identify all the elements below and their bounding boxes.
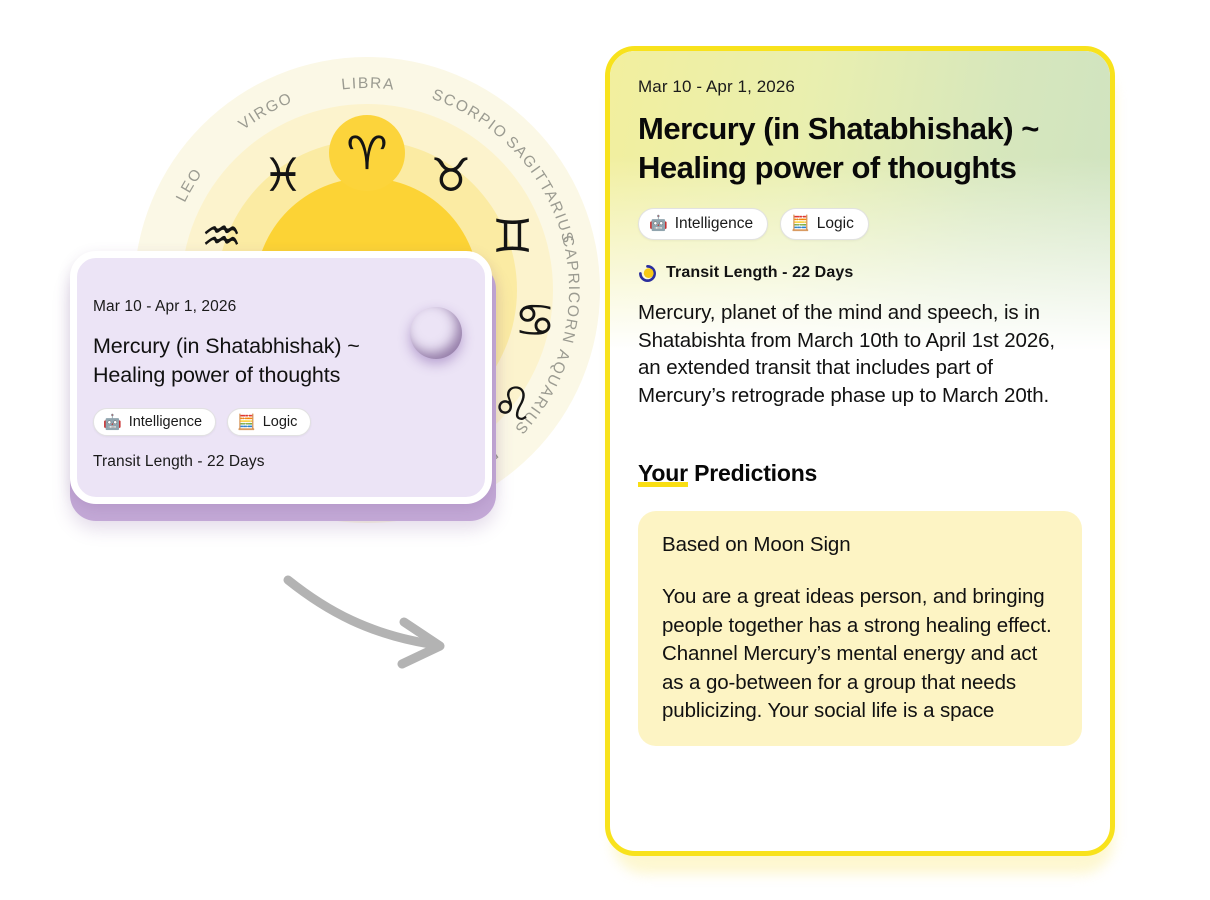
abacus-icon: 🧮	[791, 216, 810, 231]
detail-card-title: Mercury (in Shatabhishak) ~ Healing powe…	[638, 109, 1082, 188]
zodiac-symbol-gemini: ♊	[492, 209, 533, 263]
zodiac-symbol-leo: ♌	[492, 377, 533, 431]
detail-card-transit-text: Transit Length - 22 Days	[666, 264, 853, 282]
preview-card-tags: 🤖 Intelligence 🧮 Logic	[93, 408, 463, 436]
tag-chip-label: Logic	[817, 215, 854, 233]
zodiac-symbol-cancer: ♋	[514, 293, 555, 347]
detail-card-transit-row: Transit Length - 22 Days	[638, 264, 1082, 283]
robot-icon: 🤖	[103, 415, 122, 430]
detail-card-date: Mar 10 - Apr 1, 2026	[638, 77, 1082, 97]
screen: ARIES TAURUS GEMINI CANCER LEO VIRGO LIB…	[0, 0, 1210, 900]
tag-chip-label: Logic	[263, 414, 298, 430]
prediction-text: You are a great ideas person, and bringi…	[662, 583, 1058, 725]
curved-arrow-icon	[280, 572, 465, 672]
tag-chip-label: Intelligence	[129, 414, 202, 430]
purple-planet-icon	[410, 307, 462, 359]
zodiac-symbol-pisces: ♓	[262, 148, 303, 202]
tag-chip-logic[interactable]: 🧮 Logic	[780, 208, 869, 240]
robot-icon: 🤖	[649, 216, 668, 231]
preview-card-date: Mar 10 - Apr 1, 2026	[93, 298, 463, 316]
zodiac-symbol-aries: ♈	[346, 126, 387, 180]
preview-card-transit: Transit Length - 22 Days	[93, 453, 463, 471]
detail-card-body: Mercury, planet of the mind and speech, …	[638, 299, 1082, 411]
tag-chip-intelligence[interactable]: 🤖 Intelligence	[93, 408, 216, 436]
zodiac-symbol-taurus: ♉	[430, 148, 471, 202]
predictions-heading: Your Predictions	[638, 460, 1082, 487]
tag-chip-label: Intelligence	[675, 215, 753, 233]
transit-cycle-icon	[638, 264, 657, 283]
abacus-icon: 🧮	[237, 415, 256, 430]
predictions-heading-rest: Predictions	[688, 460, 817, 486]
detail-card-tags: 🤖 Intelligence 🧮 Logic	[638, 208, 1082, 240]
tag-chip-intelligence[interactable]: 🤖 Intelligence	[638, 208, 768, 240]
predictions-heading-highlight: Your	[638, 460, 688, 487]
wheel-label-libra: LIBRA	[341, 75, 396, 94]
preview-card[interactable]: Mar 10 - Apr 1, 2026 Mercury (in Shatabh…	[70, 251, 492, 504]
preview-card-title: Mercury (in Shatabhishak) ~ Healing powe…	[93, 332, 403, 389]
prediction-card: Based on Moon Sign You are a great ideas…	[638, 511, 1082, 745]
prediction-basis: Based on Moon Sign	[662, 533, 1058, 557]
detail-card[interactable]: Mar 10 - Apr 1, 2026 Mercury (in Shatabh…	[605, 46, 1115, 856]
tag-chip-logic[interactable]: 🧮 Logic	[227, 408, 311, 436]
